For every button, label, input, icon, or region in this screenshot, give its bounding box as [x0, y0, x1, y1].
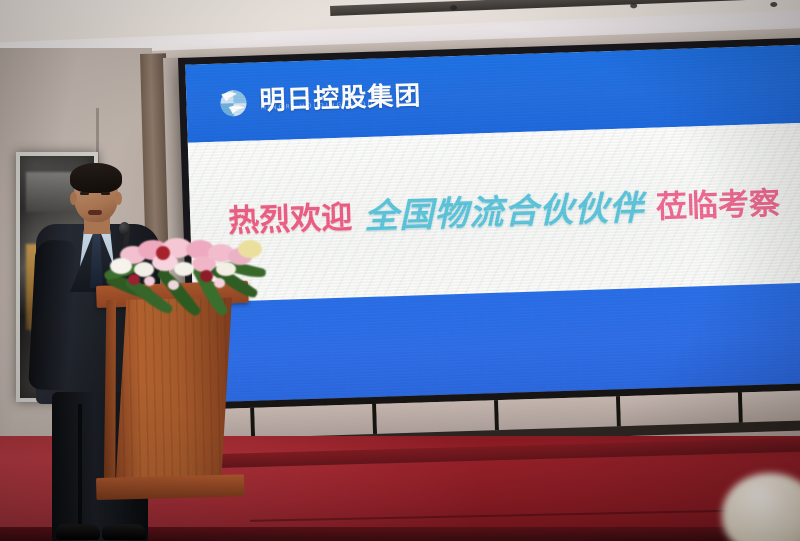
slide-headline: 热烈欢迎 全国物流合伙伙伴 莅临考察	[188, 122, 800, 302]
presenter-left-arm	[28, 239, 76, 391]
microphone-head-icon	[119, 222, 130, 235]
conference-stage-photo: 明日控股集团 MINGRI HOLDING GROUP 热烈欢迎 全国物流合伙伙…	[0, 0, 800, 541]
headline-segment-welcome: 热烈欢迎	[228, 202, 353, 237]
presenter-leg-gap	[78, 404, 82, 534]
presenter-shoe	[102, 524, 146, 540]
presenter-eye	[101, 192, 110, 195]
lectern-base	[96, 474, 244, 500]
presenter-ear	[70, 192, 77, 205]
presenter-ear	[115, 192, 122, 205]
led-display-screen: 明日控股集团 MINGRI HOLDING GROUP 热烈欢迎 全国物流合伙伙…	[178, 37, 800, 429]
mingri-circular-logo-mark	[216, 85, 251, 120]
presenter-hair	[70, 163, 122, 193]
presenter-mouth	[88, 210, 102, 215]
floral-arrangement	[104, 236, 264, 332]
presenter-eye	[80, 192, 89, 195]
headline-segment-visit: 莅临考察	[656, 188, 781, 223]
headline-segment-partners: 全国物流合伙伙伴	[364, 191, 645, 234]
screen-content: 明日控股集团 MINGRI HOLDING GROUP 热烈欢迎 全国物流合伙伙…	[185, 44, 800, 423]
presenter-shoe	[56, 524, 100, 540]
company-logo: 明日控股集团	[216, 79, 422, 120]
carpet-seam	[250, 508, 800, 522]
